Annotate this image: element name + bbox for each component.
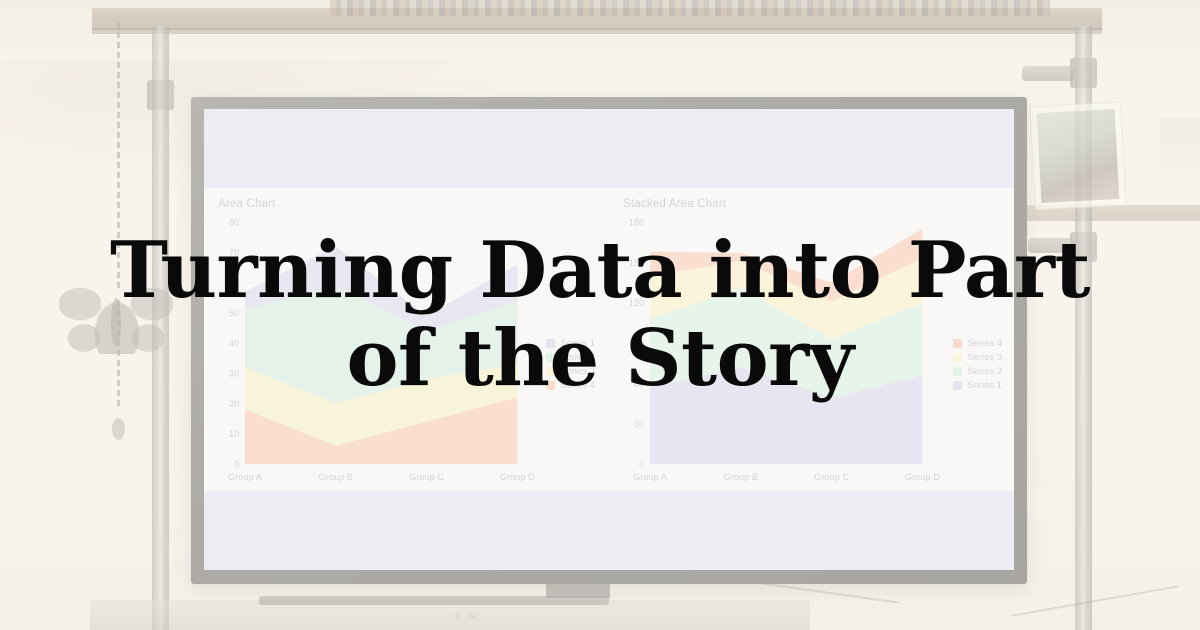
stacked-area-chart-title: Stacked Area Chart: [623, 198, 1006, 210]
dashboard-page: Area Chart 01020304050607080Group AGroup…: [204, 109, 1014, 570]
framed-photo: [1029, 102, 1126, 211]
tv-screen[interactable]: Area Chart 01020304050607080Group AGroup…: [204, 109, 1014, 570]
stacked-area-chart-panel: Stacked Area Chart 0306090120150180Group…: [609, 188, 1014, 491]
framed-photo-image: [1037, 109, 1120, 203]
x-axis-tick-label: Group D: [500, 472, 535, 482]
legend-swatch-icon: [953, 367, 962, 376]
y-axis-tick-label: 60: [229, 278, 239, 288]
legend-item-label: Series 3: [560, 366, 595, 377]
av-receiver-label: D. IN: [455, 614, 476, 621]
pipe-collar-right-lower: [1070, 232, 1097, 262]
y-axis-tick-label: 120: [629, 298, 644, 308]
shelf-clutter: [330, 0, 1050, 16]
x-axis-tick-label: Group A: [633, 472, 668, 482]
x-axis-tick-label: Group D: [905, 472, 940, 482]
legend-swatch-icon: [546, 353, 555, 362]
legend-item[interactable]: Series 2: [546, 352, 595, 363]
legend-swatch-icon: [546, 367, 555, 376]
x-axis-tick-label: Group B: [319, 472, 353, 482]
y-axis-tick-label: 0: [234, 459, 239, 469]
area-chart-svg: 01020304050607080Group AGroup BGroup CGr…: [212, 214, 601, 486]
tv-stand-base: [259, 596, 609, 605]
y-axis-tick-label: 90: [634, 338, 644, 348]
hanging-chain-lower: [117, 300, 120, 410]
area-chart-title: Area Chart: [218, 198, 601, 210]
legend-swatch-icon: [953, 381, 962, 390]
stacked-area-chart-svg: 0306090120150180Group AGroup BGroup CGro…: [617, 214, 1006, 486]
glass-jar: [1160, 118, 1200, 188]
legend-item[interactable]: Series 4: [953, 338, 1002, 349]
legend-item-label: Series 3: [967, 352, 1002, 363]
legend-item-label: Series 1: [560, 338, 595, 349]
legend-swatch-icon: [546, 381, 555, 390]
x-axis-tick-label: Group C: [409, 472, 444, 482]
y-axis-tick-label: 70: [229, 248, 239, 258]
legend-item[interactable]: Series 2: [953, 366, 1002, 377]
y-axis-tick-label: 20: [229, 399, 239, 409]
y-axis-tick-label: 180: [629, 217, 644, 227]
x-axis-tick-label: Group B: [724, 472, 758, 482]
area-chart-legend: Series 1Series 2Series 3Series 4: [546, 338, 595, 391]
television: Area Chart 01020304050607080Group AGroup…: [191, 97, 1027, 584]
legend-swatch-icon: [953, 339, 962, 348]
stacked-area-chart-legend: Series 4Series 3Series 2Series 1: [953, 338, 1002, 391]
y-axis-tick-label: 30: [229, 369, 239, 379]
legend-item-label: Series 2: [967, 366, 1002, 377]
legend-item[interactable]: Series 3: [546, 366, 595, 377]
area-chart-plot: 01020304050607080Group AGroup BGroup CGr…: [212, 214, 601, 486]
legend-item-label: Series 4: [967, 338, 1002, 349]
pipe-collar-right: [1070, 58, 1097, 88]
upper-shelf-edge: [92, 28, 1102, 34]
y-axis-tick-label: 150: [629, 258, 644, 268]
legend-item-label: Series 2: [560, 352, 595, 363]
cable-right: [1011, 585, 1179, 616]
legend-item[interactable]: Series 1: [546, 338, 595, 349]
butterfly-ornament: [52, 278, 180, 362]
y-axis-tick-label: 80: [229, 217, 239, 227]
legend-swatch-icon: [546, 339, 555, 348]
y-axis-tick-label: 10: [229, 429, 239, 439]
charts-card: Area Chart 01020304050607080Group AGroup…: [204, 188, 1014, 491]
y-axis-tick-label: 40: [229, 338, 239, 348]
pipe-elbow-right-upper: [1022, 66, 1074, 81]
legend-item-label: Series 1: [967, 380, 1002, 391]
stacked-area-chart-plot: 0306090120150180Group AGroup BGroup CGro…: [617, 214, 1006, 486]
legend-item[interactable]: Series 4: [546, 380, 595, 391]
y-axis-tick-label: 0: [639, 459, 644, 469]
legend-swatch-icon: [953, 353, 962, 362]
bell-clapper: [112, 418, 125, 440]
hanging-chain-upper: [117, 22, 120, 292]
y-axis-tick-label: 50: [229, 308, 239, 318]
x-axis-tick-label: Group A: [228, 472, 263, 482]
legend-item[interactable]: Series 1: [953, 380, 1002, 391]
y-axis-tick-label: 60: [634, 379, 644, 389]
legend-item[interactable]: Series 3: [953, 352, 1002, 363]
pipe-collar-left: [147, 80, 174, 110]
legend-item-label: Series 4: [560, 380, 595, 391]
x-axis-tick-label: Group C: [814, 472, 849, 482]
pipe-elbow-right-lower: [1028, 238, 1074, 253]
y-axis-tick-label: 30: [634, 419, 644, 429]
area-chart-panel: Area Chart 01020304050607080Group AGroup…: [204, 188, 609, 491]
